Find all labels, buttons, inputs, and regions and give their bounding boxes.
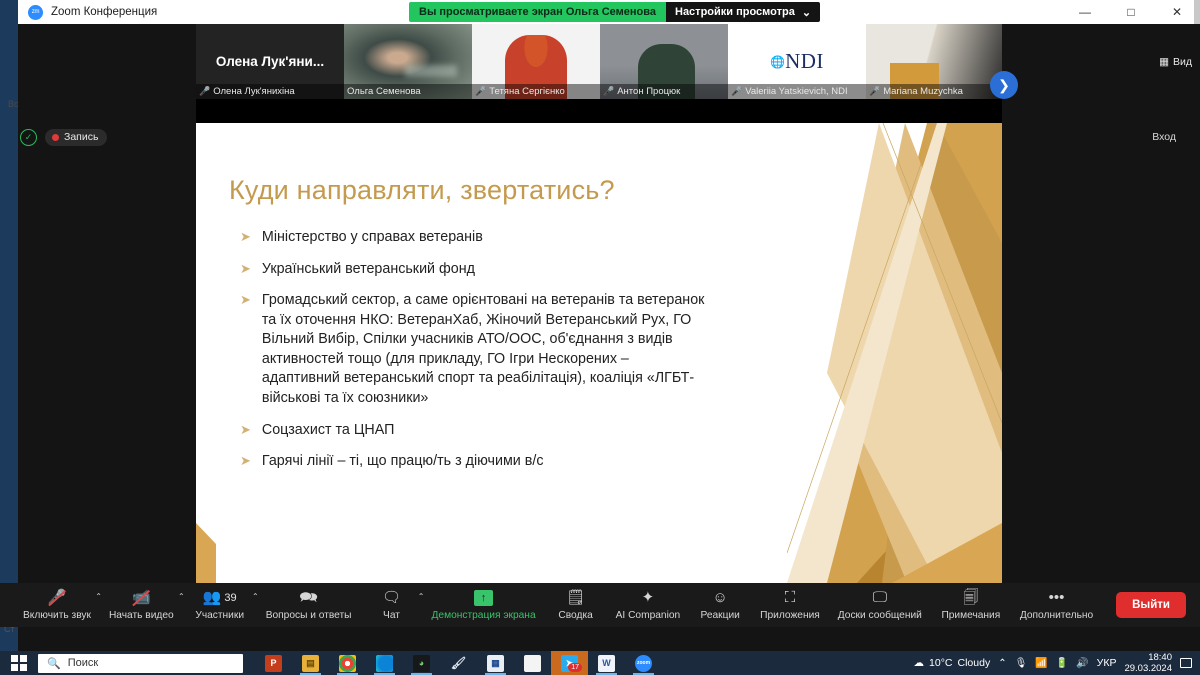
reactions-icon: ☺ [713, 590, 728, 607]
more-dots-icon: ••• [1049, 590, 1065, 607]
edge-icon [376, 655, 393, 672]
qa-icon: 🗪 [299, 590, 318, 607]
view-settings-button[interactable]: Настройки просмотра ⌄ [666, 2, 820, 22]
toolbar-share-screen-label: Демонстрация экрана [432, 610, 536, 621]
ndi-logo-text: NDI [785, 49, 824, 74]
list-item: ➤ Громадський сектор, а саме орієнтовані… [240, 291, 708, 408]
powerpoint-icon: P [265, 655, 282, 672]
participant-tile-0[interactable]: Олена Лук'яни... 🎤 Олена Лук'янихіна [196, 24, 344, 99]
taskbar-app-viber[interactable]: ◕ [403, 651, 440, 675]
mic-off-icon: 🎤 [199, 87, 210, 96]
folder-icon: ▤ [302, 655, 319, 672]
slide-decoration-graphic [787, 123, 1002, 583]
document-icon [524, 655, 541, 672]
taskbar-app-notepad[interactable] [514, 651, 551, 675]
desktop-left-edge [0, 24, 18, 651]
record-dot-icon [52, 134, 59, 141]
slide-title: Куди направляти, звертатись? [229, 175, 615, 206]
taskbar-app-word[interactable]: W [588, 651, 625, 675]
toolbar-apps-label: Приложения [760, 610, 820, 621]
toolbar-chat-button[interactable]: 🗨 Чат ⌃ [361, 583, 423, 627]
weather-temp: 10°C [929, 657, 952, 669]
bullet-arrow-icon: ➤ [240, 421, 251, 441]
participant-name-2: Тетяна Сергієнко [489, 86, 565, 97]
excel-icon: ▦ [487, 655, 504, 672]
view-settings-label: Настройки просмотра [675, 6, 795, 18]
desktop-icon-label-top: Вс [8, 99, 19, 109]
participant-tile-5[interactable]: 🎤 Mariana Muzychka [866, 24, 1002, 99]
toolbar-ai-companion-label: AI Companion [616, 610, 681, 621]
toolbar-summary-label: Сводка [558, 610, 592, 621]
taskbar-app-edge[interactable] [366, 651, 403, 675]
view-layout-button[interactable]: ▦ Вид [1159, 56, 1192, 68]
word-icon: W [598, 655, 615, 672]
chat-icon: 🗨 [382, 590, 401, 607]
toolbar-notes-label: Примечания [941, 610, 1000, 621]
taskbar-app-excel[interactable]: ▦ [477, 651, 514, 675]
toolbar-whiteboard-button[interactable]: 🖵 Доски сообщений [829, 583, 931, 627]
list-item: ➤ Міністерство у справах ветеранів [240, 228, 708, 248]
notifications-icon[interactable] [1180, 658, 1192, 668]
list-item: ➤ Соцзахист та ЦНАП [240, 421, 708, 441]
participant-name-3: Антон Процюк [617, 86, 680, 97]
shared-screen-frame: Куди направляти, звертатись? ➤ Міністерс… [196, 99, 1002, 607]
toolbar-video-label: Начать видео [109, 610, 174, 621]
participant-tile-4[interactable]: 🌐 NDI 🎤 Valeriia Yatskievich, NDI [728, 24, 866, 99]
chevron-down-icon: ⌄ [802, 6, 811, 19]
window-titlebar: zm Zoom Конференция Вы просматриваете эк… [0, 0, 1200, 24]
system-tray: ☁ 10°C Cloudy ⌃ 🎙 📶 🔋 🔊 УКР 18:40 29.03.… [914, 652, 1200, 674]
toolbar-qa-label: Вопросы и ответы [266, 610, 352, 621]
toolbar-participants-label: Участники [195, 610, 244, 621]
presentation-slide: Куди направляти, звертатись? ➤ Міністерс… [196, 123, 1002, 583]
clock[interactable]: 18:40 29.03.2024 [1124, 652, 1172, 674]
meeting-toolbar: 🎤 Включить звук ⌃ 📹 Начать видео ⌃ 👥39 У… [0, 583, 1200, 627]
mic-off-icon: 🎤 [48, 590, 67, 607]
microphone-icon[interactable]: 🎙 [1015, 658, 1028, 669]
windows-logo-icon [11, 655, 27, 671]
toolbar-participants-button[interactable]: 👥39 Участники ⌃ [183, 583, 257, 627]
bullet-arrow-icon: ➤ [240, 452, 251, 472]
battery-icon[interactable]: 🔋 [1056, 658, 1068, 669]
participant-filmstrip[interactable]: Олена Лук'яни... 🎤 Олена Лук'янихіна Оль… [196, 24, 1002, 99]
wifi-icon[interactable]: 📶 [1035, 658, 1047, 669]
recording-label: Запись [64, 131, 98, 143]
clock-time: 18:40 [1148, 652, 1172, 663]
titlebar-right-strip [1194, 0, 1200, 24]
list-item: ➤ Гарячі лінії – ті, що працю/ть з діючи… [240, 452, 708, 472]
filmstrip-next-button[interactable]: ❯ [990, 71, 1018, 99]
participant-tile-3[interactable]: 🎤 Антон Процюк [600, 24, 728, 99]
desktop-edge-strip [0, 0, 18, 24]
participants-count: 39 [224, 590, 236, 606]
participant-nameplate-4: 🎤 Valeriia Yatskievich, NDI [728, 84, 866, 99]
bullet-text: Громадський сектор, а саме орієнтовані н… [262, 291, 708, 408]
taskbar-search-input[interactable]: 🔍 Поиск [38, 654, 243, 673]
mic-off-icon: 🎤 [869, 87, 880, 96]
language-indicator[interactable]: УКР [1097, 657, 1117, 669]
cloud-icon: ☁ [914, 657, 925, 669]
mic-off-icon: 🎤 [475, 87, 486, 96]
participant-nameplate-2: 🎤 Тетяна Сергієнко [472, 84, 600, 99]
telegram-badge: 17 [568, 663, 582, 672]
zoom-logo-icon: zm [28, 5, 43, 20]
participant-name-5: Mariana Muzychka [883, 86, 963, 97]
bullet-arrow-icon: ➤ [240, 260, 251, 280]
bullet-text: Гарячі лінії – ті, що працю/ть з діючими… [262, 452, 544, 472]
ai-sparkle-icon: ✦ [642, 590, 655, 607]
toolbar-whiteboard-label: Доски сообщений [838, 610, 922, 621]
window-title: Zoom Конференция [51, 6, 157, 18]
participant-name-4: Valeriia Yatskievich, NDI [745, 86, 847, 97]
list-item: ➤ Український ветеранський фонд [240, 260, 708, 280]
search-icon: 🔍 [47, 657, 61, 670]
bullet-text: Український ветеранський фонд [262, 260, 475, 280]
toolbar-chat-label: Чат [383, 610, 400, 621]
toolbar-reactions-button[interactable]: ☺ Реакции [689, 583, 751, 627]
bullet-text: Соцзахист та ЦНАП [262, 421, 394, 441]
minimize-button[interactable]: — [1062, 0, 1108, 24]
start-button[interactable] [0, 651, 38, 675]
viber-icon: ◕ [413, 655, 430, 672]
maximize-button[interactable]: □ [1108, 0, 1154, 24]
notes-icon: 🗐 [963, 590, 978, 607]
bullet-text: Міністерство у справах ветеранів [262, 228, 483, 248]
participant-nameplate-3: 🎤 Антон Процюк [600, 84, 728, 99]
chrome-icon [339, 655, 356, 672]
toolbar-mute-button[interactable]: 🎤 Включить звук ⌃ [14, 583, 100, 627]
zoom-icon: zoom [635, 655, 652, 672]
participant-nameplate-1: Ольга Семенова [344, 84, 472, 99]
toolbar-video-button[interactable]: 📹 Начать видео ⌃ [100, 583, 183, 627]
recording-badge[interactable]: Запись [45, 129, 107, 146]
toolbar-ai-companion-button[interactable]: ✦ AI Companion [607, 583, 690, 627]
taskbar-app-file-explorer[interactable]: ▤ [292, 651, 329, 675]
bullet-arrow-icon: ➤ [240, 228, 251, 248]
windows-taskbar: 🔍 Поиск P ▤ ◕ 🖌 [0, 651, 1200, 675]
window-controls: — □ ✕ [1062, 0, 1200, 24]
participant-nameplate-0: 🎤 Олена Лук'янихіна [196, 84, 344, 99]
encryption-shield-icon[interactable]: ✓ [20, 129, 37, 146]
toolbar-more-button[interactable]: ••• Дополнительно [1011, 583, 1102, 627]
toolbar-summary-button[interactable]: 🗒 Сводка [545, 583, 607, 627]
weather-desc: Cloudy [958, 657, 991, 669]
recording-indicator-row: ✓ Запись [20, 129, 107, 146]
share-banner-text: Вы просматриваете экран Ольга Семенова [409, 2, 666, 22]
globe-icon: 🌐 [770, 55, 785, 69]
tray-weather[interactable]: ☁ 10°C Cloudy [914, 657, 991, 669]
participant-tile-1[interactable]: Ольга Семенова [344, 24, 472, 99]
taskbar-app-powerpoint[interactable]: P [255, 651, 292, 675]
camera-off-icon: 📹 [132, 590, 151, 607]
toolbar-notes-button[interactable]: 🗐 Примечания [931, 583, 1011, 627]
share-screen-icon: ↑ [474, 590, 493, 607]
toolbar-share-screen-button[interactable]: ↑ Демонстрация экрана [423, 583, 545, 627]
toolbar-reactions-label: Реакции [700, 610, 739, 621]
tray-overflow-chevron-icon[interactable]: ⌃ [998, 658, 1006, 669]
screen-share-notification: Вы просматриваете экран Ольга Семенова Н… [409, 2, 820, 22]
participants-icon: 👥39 [203, 590, 237, 607]
taskbar-app-list: P ▤ ◕ 🖌 ▦ [255, 651, 662, 675]
enter-button[interactable]: Вход [1152, 131, 1176, 143]
screen-root: zm Zoom Конференция Вы просматриваете эк… [0, 0, 1200, 675]
taskbar-app-chrome[interactable] [329, 651, 366, 675]
taskbar-app-zoom[interactable]: zoom [625, 651, 662, 675]
participant-name-0: Олена Лук'янихіна [213, 86, 294, 97]
taskbar-app-telegram[interactable]: ➤ 17 [551, 651, 588, 675]
clock-date: 29.03.2024 [1124, 663, 1172, 674]
toolbar-apps-button[interactable]: ⛶ Приложения [751, 583, 829, 627]
mic-off-icon: 🎤 [603, 87, 614, 96]
titlebar-left-pad [18, 0, 24, 24]
taskbar-app-paint[interactable]: 🖌 [440, 651, 477, 675]
toolbar-qa-button[interactable]: 🗪 Вопросы и ответы [257, 583, 361, 627]
volume-icon[interactable]: 🔊 [1076, 658, 1088, 669]
leave-meeting-button[interactable]: Выйти [1116, 592, 1186, 618]
search-placeholder: Поиск [68, 657, 98, 669]
participant-nameplate-5: 🎤 Mariana Muzychka [866, 84, 1002, 99]
grid-view-icon: ▦ [1159, 56, 1169, 68]
paint-brush-icon: 🖌 [450, 655, 467, 672]
slide-bullet-list: ➤ Міністерство у справах ветеранів ➤ Укр… [240, 228, 708, 484]
slide-left-accent [196, 523, 216, 583]
zoom-meeting-body: Вс Ст Олена Лук'яни... 🎤 Олена Лук'янихі… [0, 24, 1200, 651]
toolbar-mute-label: Включить звук [23, 610, 91, 621]
view-label: Вид [1173, 56, 1192, 68]
mic-off-icon: 🎤 [731, 87, 742, 96]
apps-icon: ⛶ [785, 590, 796, 607]
whiteboard-icon: 🖵 [873, 590, 887, 607]
toolbar-more-label: Дополнительно [1020, 610, 1093, 621]
participant-name-1: Ольга Семенова [347, 86, 421, 97]
bullet-arrow-icon: ➤ [240, 291, 251, 408]
summary-icon: 🗒 [566, 590, 585, 607]
participant-tile-2[interactable]: 🎤 Тетяна Сергієнко [472, 24, 600, 99]
